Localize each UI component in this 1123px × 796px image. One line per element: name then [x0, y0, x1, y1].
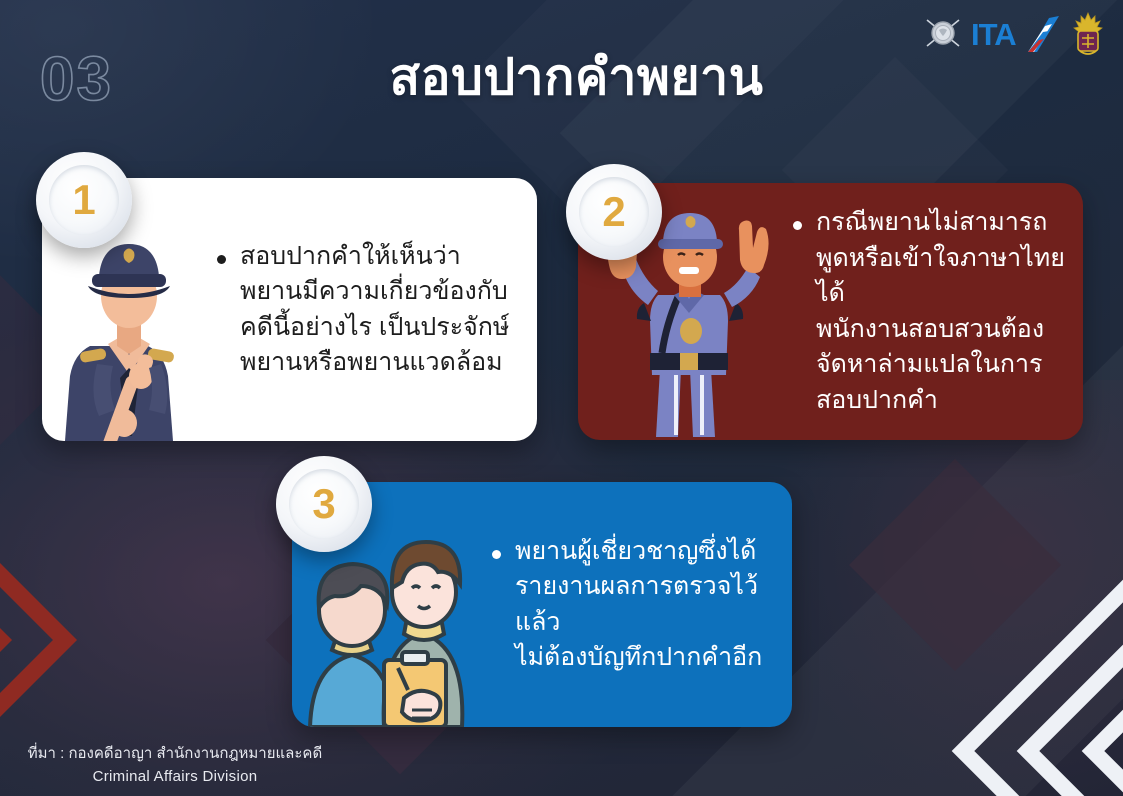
- footer-source-thai: ที่มา : กองคดีอาญา สำนักงานกฎหมายและคดี: [10, 743, 340, 766]
- card-3-bullet-icon: [492, 550, 501, 559]
- white-chevron-pattern: [823, 526, 1123, 796]
- card-3-number-badge: 3: [276, 456, 372, 552]
- card-1-bullet-icon: [217, 255, 226, 264]
- card-2-text-block: กรณีพยานไม่สามารถ พูดหรือเข้าใจภาษาไทยได…: [793, 205, 1083, 418]
- card-3-number: 3: [312, 483, 335, 525]
- card-3-text-block: พยานผู้เชี่ยวชาญซึ่งได้ รายงานผลการตรวจไ…: [492, 534, 792, 676]
- card-2-number: 2: [602, 191, 625, 233]
- footer-source-english: Criminal Affairs Division: [10, 766, 340, 789]
- page-header: 03 สอบปากคำพยาน ITA: [0, 0, 1123, 140]
- garuda-emblem-icon: [1071, 11, 1105, 57]
- ita-wordmark-icon: ITA: [971, 12, 1063, 56]
- card-2-number-badge: 2: [566, 164, 662, 260]
- card-1-text-block: สอบปากคำให้เห็นว่า พยานมีความเกี่ยวข้องก…: [217, 239, 537, 381]
- footer-source: ที่มา : กองคดีอาญา สำนักงานกฎหมายและคดี …: [10, 743, 340, 788]
- ita-logo: ITA: [971, 12, 1063, 56]
- svg-text:ITA: ITA: [971, 17, 1016, 52]
- card-2-bullet-icon: [793, 221, 802, 230]
- card-1-number-badge: 1: [36, 152, 132, 248]
- red-chevron-pattern: [0, 405, 320, 796]
- logo-group: ITA: [923, 8, 1105, 60]
- card-2-body: กรณีพยานไม่สามารถ พูดหรือเข้าใจภาษาไทยได…: [816, 205, 1065, 418]
- card-3-body: พยานผู้เชี่ยวชาญซึ่งได้ รายงานผลการตรวจไ…: [515, 534, 774, 676]
- silver-seal-emblem-icon: [923, 12, 963, 56]
- card-1-body: สอบปากคำให้เห็นว่า พยานมีความเกี่ยวข้องก…: [240, 239, 509, 381]
- card-1-number: 1: [72, 179, 95, 221]
